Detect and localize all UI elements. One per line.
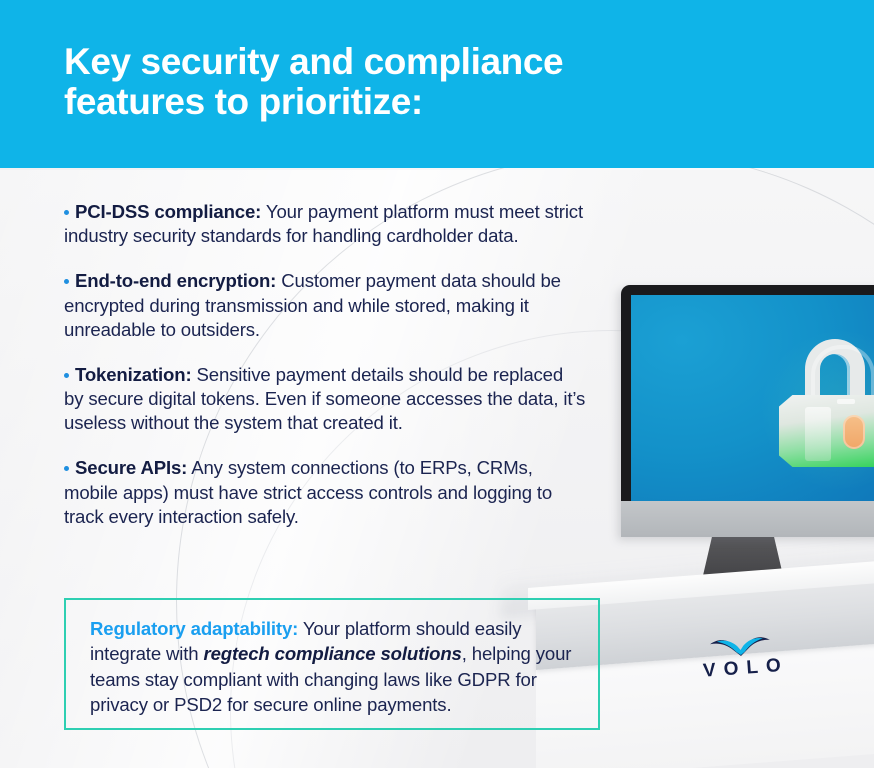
- padlock-panel: [805, 407, 831, 461]
- callout-box: Regulatory adaptability: Your platform s…: [64, 598, 600, 730]
- desktop-monitor-illustration: [621, 285, 874, 537]
- monitor-chin: [621, 501, 874, 537]
- list-item-term: End-to-end encryption:: [75, 270, 276, 291]
- fingerprint-icon: [843, 415, 865, 449]
- bullet-dot-icon: [64, 210, 69, 215]
- feature-list: PCI-DSS compliance: Your payment platfor…: [64, 200, 586, 529]
- infographic-canvas: VOLO Key security and compliance feature…: [0, 0, 874, 768]
- callout-emphasis: regtech compliance solutions: [204, 643, 462, 664]
- callout-text: Regulatory adaptability: Your platform s…: [90, 616, 578, 717]
- volo-logo: VOLO: [675, 629, 808, 682]
- list-item-term: PCI-DSS compliance:: [75, 201, 261, 222]
- list-item: Secure APIs: Any system connections (to …: [64, 456, 586, 529]
- list-item: Tokenization: Sensitive payment details …: [64, 363, 586, 436]
- list-item-term: Secure APIs:: [75, 457, 187, 478]
- bullet-dot-icon: [64, 373, 69, 378]
- monitor-screen: [631, 295, 874, 501]
- list-item-term: Tokenization:: [75, 364, 192, 385]
- padlock-icon: [779, 339, 874, 467]
- bullet-dot-icon: [64, 279, 69, 284]
- volo-bird-mark: [707, 632, 772, 659]
- callout-term: Regulatory adaptability:: [90, 618, 298, 639]
- header-band: Key security and compliance features to …: [0, 0, 874, 168]
- page-title: Key security and compliance features to …: [64, 42, 704, 122]
- list-item: End-to-end encryption: Customer payment …: [64, 269, 586, 342]
- padlock-slot: [837, 399, 855, 404]
- bullet-dot-icon: [64, 466, 69, 471]
- list-item: PCI-DSS compliance: Your payment platfor…: [64, 200, 586, 248]
